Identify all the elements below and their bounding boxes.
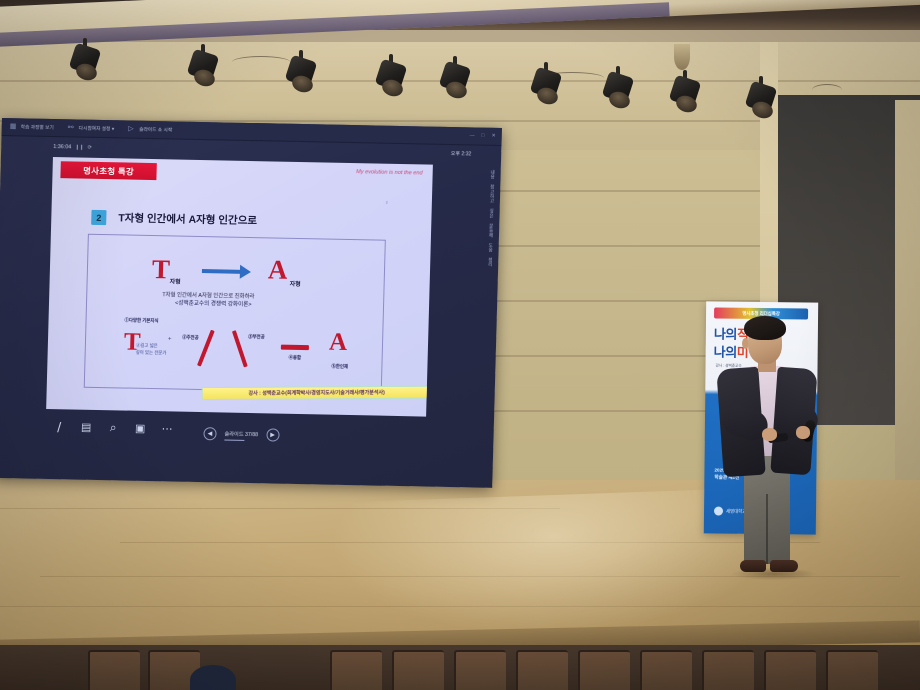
slide-content-frame: T 자형 A 자형 T자형 인간에서 A자형 인간으로 진화하라 ①다양한 기본… xyxy=(84,234,386,394)
link-icon: ⚯ xyxy=(68,124,76,132)
pen-icon[interactable]: / xyxy=(51,419,66,434)
menu-label: 다시참여자 설정 ▾ xyxy=(79,125,115,132)
stage-spotlight xyxy=(288,50,314,96)
projection-screen: ▦ 학습 과정별 보기 ⚯ 다시참여자 설정 ▾ ▷ 슬라이드 쇼 시작 — □… xyxy=(0,118,502,488)
slide-navigation: ◀ 슬라이드 37/88 ▶ xyxy=(203,427,279,442)
slide-tagline: My evolution is not the end xyxy=(356,169,423,176)
letter-a-big: A xyxy=(268,256,288,283)
equation-letter-a: A xyxy=(329,330,348,355)
equation-label-3: ③부전공 xyxy=(248,334,265,340)
letter-t-sublabel: 자형 xyxy=(170,276,181,285)
prev-slide-button[interactable]: ◀ xyxy=(203,427,216,440)
pause-icon[interactable]: ❙❙ xyxy=(75,144,84,150)
stage-spotlight xyxy=(533,62,559,108)
minimize-icon[interactable]: — xyxy=(469,132,474,138)
lecture-hall-scene: ▦ 학습 과정별 보기 ⚯ 다시참여자 설정 ▾ ▷ 슬라이드 쇼 시작 — □… xyxy=(0,0,920,690)
menu-label: 학습 과정별 보기 xyxy=(21,124,54,131)
stage-spotlight xyxy=(442,56,468,102)
audience-head xyxy=(190,665,236,690)
slide-heading: 2 T자형 인간에서 A자형 인간으로 xyxy=(91,210,257,228)
stage-spotlight xyxy=(748,76,774,122)
monitor-icon: ▷ xyxy=(128,125,136,133)
menu-item-course-view[interactable]: ▦ 학습 과정별 보기 xyxy=(10,123,54,132)
speaker-hair xyxy=(744,316,786,340)
stage-spotlight xyxy=(672,70,698,116)
lecturer-credit-text: 강사 : 성백춘교수(회계학박사/경영지도사/기술거래사/평가분석사) xyxy=(249,389,385,397)
screen-icon[interactable]: ▣ xyxy=(132,421,147,436)
screen-side-vertical-text: 내용 참고하고 싶은 분들께 도움 정리 xyxy=(478,170,496,300)
stage-spotlight xyxy=(72,38,98,84)
next-slide-button[interactable]: ▶ xyxy=(266,428,279,441)
slide-tools: / ▤ ⌕ ▣ ⋯ xyxy=(51,419,174,436)
speaker-hand-left xyxy=(762,428,777,441)
letter-a-sublabel: 자형 xyxy=(290,279,301,288)
menu-label: 슬라이드 쇼 시작 xyxy=(139,126,172,133)
equation-label-1b: ②깊고 넓은 xyxy=(136,343,158,349)
lecturer-credit-strip: 강사 : 성백춘교수(회계학박사/경영지도사/기술거래사/평가분석사) xyxy=(202,386,432,400)
slide-surface: 명사초청 특강 My evolution is not the end 2 2 … xyxy=(46,157,433,417)
reset-icon[interactable]: ⟳ xyxy=(88,145,92,151)
ceiling-speaker-cone xyxy=(674,44,690,70)
slide-counter-label: 슬라이드 37/88 xyxy=(224,431,258,439)
menu-item-rejoin-settings[interactable]: ⚯ 다시참여자 설정 ▾ xyxy=(68,124,115,133)
equation-label-1: ①다양한 기본지식 xyxy=(124,317,158,324)
speaker-figure xyxy=(718,316,828,592)
session-timer: 1:36:04 ❙❙ ⟳ xyxy=(53,144,92,151)
speaker-leg-divide xyxy=(766,494,768,564)
chart-icon: ▦ xyxy=(10,123,18,131)
slide-page-mark: 2 xyxy=(386,200,388,205)
zoom-icon[interactable]: ⌕ xyxy=(105,420,120,435)
maximize-icon[interactable]: □ xyxy=(481,133,484,139)
slash-stroke-icon xyxy=(197,330,215,367)
stage-spotlight xyxy=(605,66,631,112)
close-icon[interactable]: ✕ xyxy=(491,133,495,139)
equation-label-4: ④융합 xyxy=(289,355,302,361)
letter-t-big: T xyxy=(152,256,171,283)
slide-title-text: 명사초청 특강 xyxy=(83,164,134,177)
far-right-wall xyxy=(895,100,920,530)
more-icon[interactable]: ⋯ xyxy=(159,421,174,436)
equation-label-5: ⑤한인재 xyxy=(331,364,348,370)
timer-value: 1:36:04 xyxy=(53,144,71,150)
slide-title-banner: 명사초청 특강 xyxy=(60,161,156,180)
speaker-hand-right xyxy=(796,426,810,439)
heading-number-badge: 2 xyxy=(91,210,106,225)
equation-label-1c: 깊이 있는 전문가 xyxy=(136,350,167,357)
speaker-shoe-right xyxy=(770,560,798,572)
progress-underline xyxy=(224,439,244,441)
heading-text: T자형 인간에서 A자형 인간으로 xyxy=(118,210,257,228)
plus-icon: + xyxy=(168,336,172,342)
backslash-stroke-icon xyxy=(232,330,248,367)
dash-stroke-icon xyxy=(281,345,309,351)
stage-spotlight xyxy=(190,44,216,90)
equation-label-2: ②주전공 xyxy=(182,335,199,341)
equation-caption: <성백춘교수의 경쟁력 강화이론> xyxy=(175,299,252,309)
window-controls[interactable]: — □ ✕ xyxy=(469,132,495,139)
system-clock: 오후 2:32 xyxy=(451,150,472,157)
stage-spotlight xyxy=(378,54,404,100)
speaker-shoe-left xyxy=(740,560,766,572)
menu-item-start-slideshow[interactable]: ▷ 슬라이드 쇼 시작 xyxy=(128,125,172,134)
slide-counter-text: 슬라이드 37/88 xyxy=(224,432,258,439)
grid-icon[interactable]: ▤ xyxy=(78,420,93,435)
arrow-icon xyxy=(202,269,242,274)
arrow-head-icon xyxy=(240,265,251,279)
equation-row: ①다양한 기본지식 T ②깊고 넓은 깊이 있는 전문가 + ②주전공 ③부전공… xyxy=(85,315,383,391)
